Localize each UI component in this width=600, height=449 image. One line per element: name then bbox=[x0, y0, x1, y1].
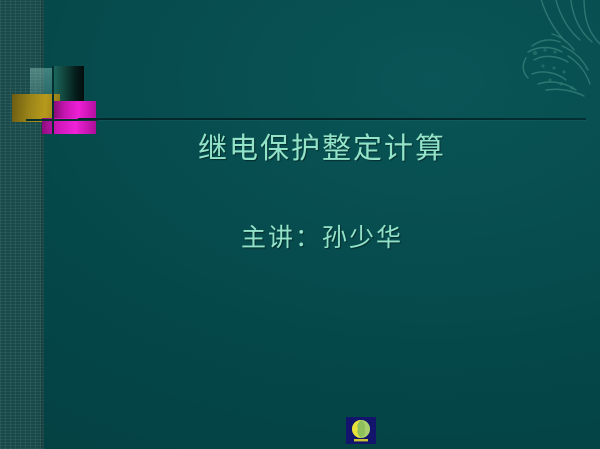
publisher-logo bbox=[346, 417, 376, 444]
publisher-logo-icon bbox=[346, 417, 376, 444]
deco-vertical-rule bbox=[52, 66, 54, 134]
title-block: 继电保护整定计算 主讲：孙少华 bbox=[44, 130, 600, 254]
deco-magenta-bar-upper bbox=[52, 101, 96, 118]
header-divider-rule bbox=[78, 118, 586, 120]
presentation-slide: 继电保护整定计算 主讲：孙少华 bbox=[0, 0, 600, 449]
slide-subtitle: 主讲：孙少华 bbox=[44, 222, 600, 253]
decorative-block-cluster bbox=[12, 66, 98, 134]
slide-title: 继电保护整定计算 bbox=[44, 130, 600, 166]
